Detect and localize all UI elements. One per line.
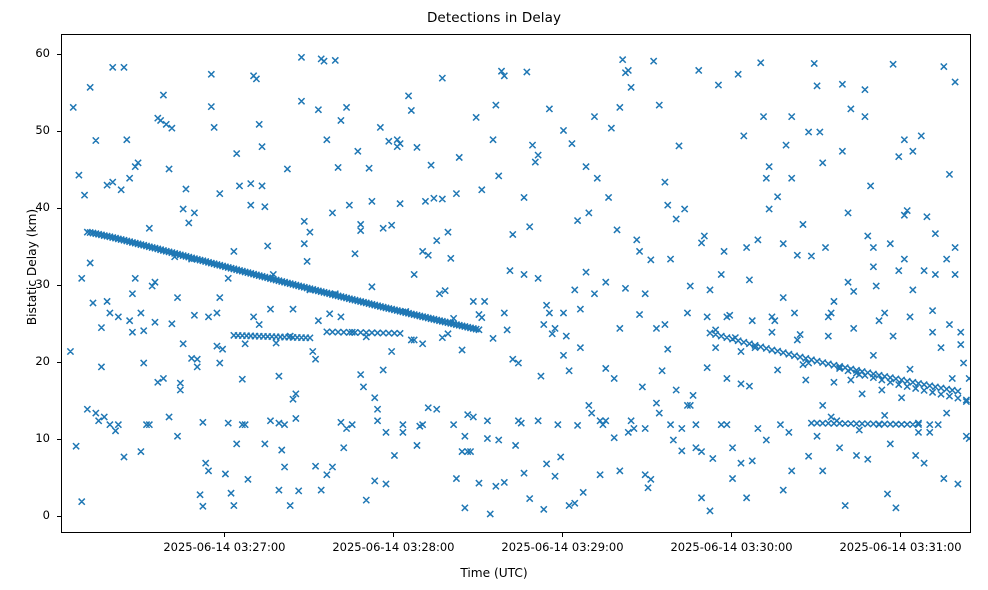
matplotlib-figure: Detections in Delay Bistatic Delay (km) … (0, 0, 988, 590)
y-tick-label: 20 (4, 354, 50, 368)
x-tick-mark (562, 533, 563, 537)
x-tick-mark (393, 533, 394, 537)
chart-title: Detections in Delay (0, 10, 988, 26)
scatter-points (62, 35, 971, 533)
x-axis-label: Time (UTC) (0, 566, 988, 580)
x-tick-mark (900, 533, 901, 537)
y-tick-label: 60 (4, 46, 50, 60)
y-tick-label: 30 (4, 277, 50, 291)
y-tick-label: 50 (4, 123, 50, 137)
x-tick-mark (224, 533, 225, 537)
plot-area (61, 34, 971, 533)
y-tick-label: 10 (4, 431, 50, 445)
y-tick-label: 0 (4, 508, 50, 522)
y-tick-label: 40 (4, 200, 50, 214)
x-tick-label: 2025-06-14 03:31:00 (801, 540, 988, 554)
x-tick-mark (731, 533, 732, 537)
